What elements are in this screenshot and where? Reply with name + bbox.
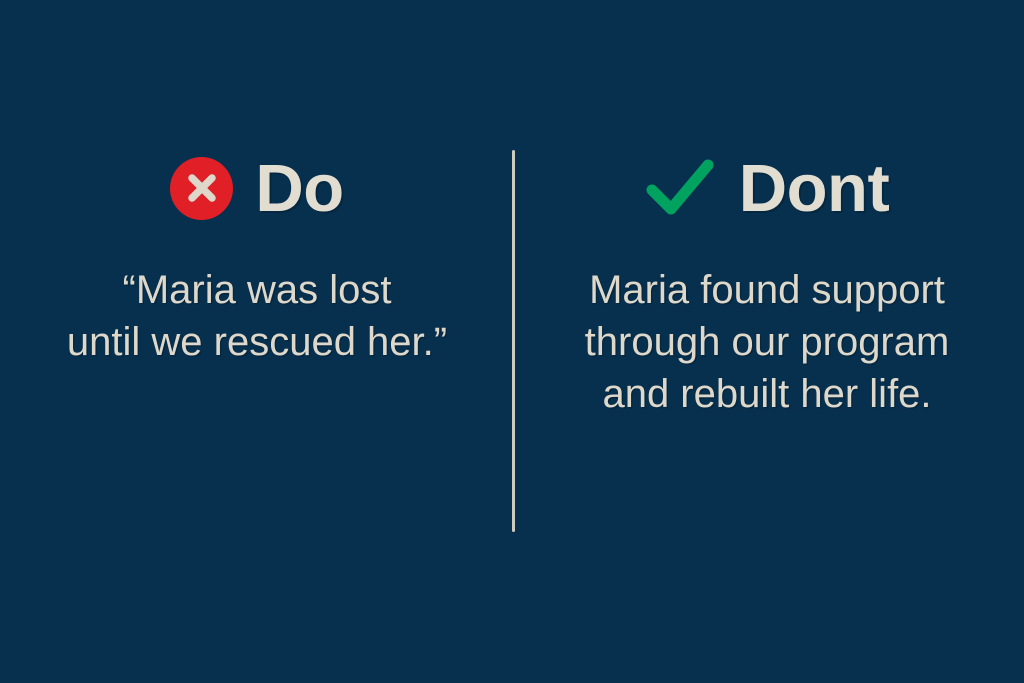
body-text-dont: Maria found support through our program … bbox=[585, 264, 950, 420]
body-line: Maria found support bbox=[585, 264, 950, 316]
body-line: through our program bbox=[585, 316, 950, 368]
body-text-do: “Maria was lost until we rescued her.” bbox=[67, 264, 447, 368]
body-line: and rebuilt her life. bbox=[585, 368, 950, 420]
column-divider bbox=[512, 150, 515, 532]
body-line: “Maria was lost bbox=[67, 264, 447, 316]
heading-label-dont: Dont bbox=[739, 155, 890, 222]
heading-row-dont: Dont bbox=[645, 148, 890, 228]
check-icon bbox=[645, 157, 715, 219]
comparison-slide: Do “Maria was lost until we rescued her.… bbox=[0, 0, 1024, 683]
heading-row-do: Do bbox=[170, 148, 343, 228]
column-dont: Dont Maria found support through our pro… bbox=[512, 0, 1024, 420]
heading-label-do: Do bbox=[255, 155, 343, 222]
circle-cross-icon bbox=[170, 157, 233, 220]
column-do: Do “Maria was lost until we rescued her.… bbox=[0, 0, 512, 368]
body-line: until we rescued her.” bbox=[67, 316, 447, 368]
